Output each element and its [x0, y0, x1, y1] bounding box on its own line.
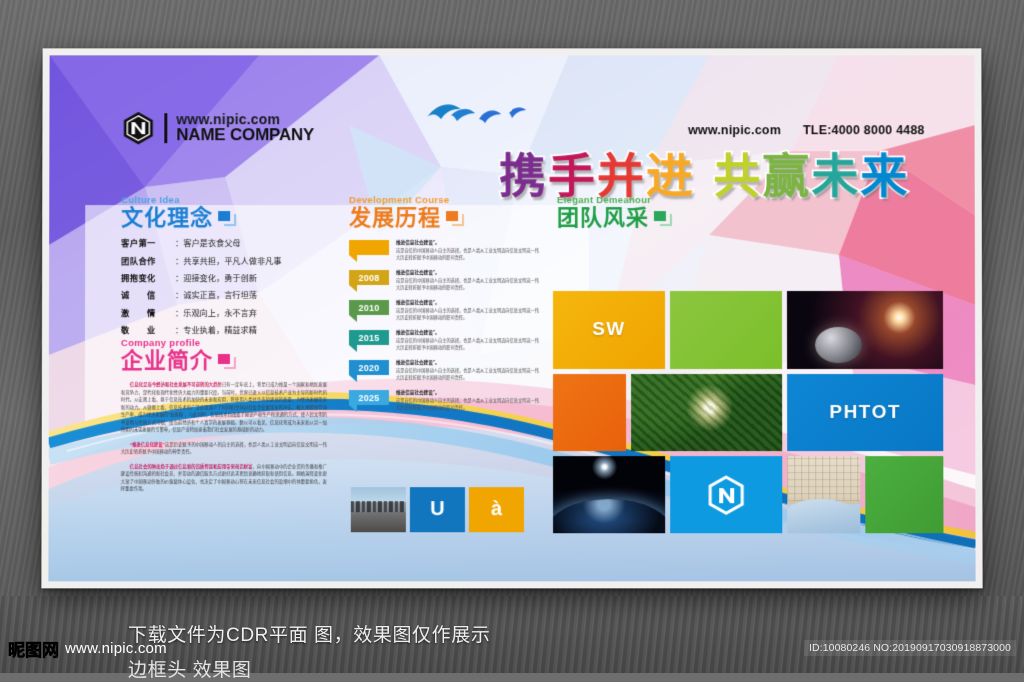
culture-square-accent-icon	[218, 210, 237, 227]
hexagon-ni-logo-icon	[706, 475, 746, 515]
timeline-body: 这是自信的中国移动人自主的选择，也是人类从工业文明迈向信息文明这一伟大历史转折赋…	[396, 308, 539, 321]
watermark-cn: 昵图网	[8, 636, 59, 661]
timeline-body: 这是自信的中国移动人自主的选择，也是人类从工业文明迈向信息文明这一伟大历史转折赋…	[396, 248, 539, 261]
team-grid-row	[553, 456, 945, 533]
culture-item-sep: ：	[175, 308, 183, 320]
screenshot-root: www.nipic.com NAME COMPANY www.nipic.com…	[0, 0, 1024, 673]
culture-item: 拥抱变化 ： 迎接变化，勇于创新	[121, 273, 321, 285]
timeline-row: 推进信息社会建设”。 这是自信的中国移动人自主的选择，也是人类从工业文明迈向信息…	[349, 240, 539, 262]
culture-item-key: 诚 信	[121, 290, 175, 302]
hexagon-ni-logo-icon	[121, 111, 155, 145]
timeline-heading: 推进信息社会建设”。	[396, 240, 539, 246]
culture-item-key: 拥抱变化	[121, 273, 175, 285]
timeline-year-tag: 2015	[349, 330, 389, 352]
team-grid-row: PHTOT	[553, 374, 945, 451]
culture-item-sep: ：	[175, 238, 183, 250]
logo-url: www.nipic.com	[176, 112, 314, 126]
culture-item-key: 客户第一	[121, 238, 175, 250]
cityscape-photo	[351, 487, 406, 532]
timeline-text: 推进信息社会建设”。 这是自信的中国移动人自主的选择，也是人类从工业文明迈向信息…	[396, 390, 539, 412]
culture-item-sep: ：	[175, 325, 183, 337]
timeline-tag-tail	[349, 285, 357, 292]
culture-item: 客户第一 ： 客户是衣食父母	[121, 238, 321, 250]
profile-cn-text: 企业简介	[121, 349, 213, 373]
timeline-body: 这是自信的中国移动人自主的选择，也是人类从工业文明迈向信息文明这一伟大历史转折赋…	[396, 338, 539, 351]
culture-item: 团队合作 ： 共享共担，平凡人做非凡事	[121, 256, 321, 268]
tile-sw-label: SW	[592, 319, 626, 341]
profile-paragraph: 信息化是当今经济和社会发展不可逆转的大趋势已有一定年底上，将至已成为推量一个国家…	[121, 381, 327, 434]
culture-item-value: 迎接变化，勇于创新	[183, 273, 257, 285]
timeline-text: 推进信息社会建设”。 这是自信的中国移动人自主的选择，也是人类从工业文明迈向信息…	[396, 270, 539, 292]
section-development-course: Development Course 发展历程	[349, 195, 539, 420]
development-thumbnail-row: U à	[351, 487, 524, 532]
timeline-year-tag: 2010	[349, 300, 389, 322]
culture-item-value: 共享共担，平凡人做非凡事	[183, 256, 281, 268]
timeline-list: 推进信息社会建设”。 这是自信的中国移动人自主的选择，也是人类从工业文明迈向信息…	[349, 240, 539, 412]
timeline-heading: 推进信息社会建设”。	[396, 390, 539, 396]
timeline-tag-tail	[349, 255, 357, 262]
letter-a-tile-label: à	[491, 498, 502, 521]
culture-item: 激 情 ： 乐观向上，永不言弃	[121, 308, 321, 320]
poster-frame: www.nipic.com NAME COMPANY www.nipic.com…	[41, 48, 982, 588]
timeline-tag-tail	[349, 405, 357, 412]
culture-item: 诚 信 ： 诚实正直，言行坦荡	[121, 290, 321, 302]
culture-item-list: 客户第一 ： 客户是衣食父母 团队合作 ： 共享共担，平凡人做非凡事 拥抱变化 …	[121, 238, 321, 337]
profile-paragraph: 信息社会的种出色于通过信息新的高质传递和应用带来创造财富，向中国移动中的企业资的…	[121, 463, 327, 493]
timeline-heading: 推进信息社会建设”。	[396, 270, 539, 276]
culture-item-value: 专业执着，精益求精	[183, 325, 257, 337]
culture-cn-title: 文化理念	[121, 206, 321, 230]
watermark: 昵图网 www.nipic.com	[8, 636, 167, 661]
photo-earth	[553, 456, 665, 533]
culture-item-key: 激 情	[121, 308, 175, 320]
team-square-accent-icon	[654, 210, 673, 227]
profile-square-accent-icon	[218, 353, 237, 370]
culture-item-value: 乐观向上，永不言弃	[183, 308, 257, 320]
timeline-body: 这是自信的中国移动人自主的选择，也是人类从工业文明迈向信息文明这一伟大历史转折赋…	[396, 398, 539, 411]
poster-canvas: www.nipic.com NAME COMPANY www.nipic.com…	[48, 55, 975, 581]
culture-cn-text: 文化理念	[121, 206, 213, 230]
section-culture: Culture Idea 文化理念 客户第一 ： 客户是衣食父母 团	[121, 195, 321, 342]
culture-item-sep: ：	[175, 290, 183, 302]
development-cn-title: 发展历程	[349, 206, 539, 230]
culture-item-sep: ：	[175, 256, 183, 268]
profile-paragraph: “推进信息化建设”这是历史赋予的中国移动人的自主的选择，也是人类从工业文明迈向信…	[121, 441, 327, 456]
culture-item-key: 敬 业	[121, 325, 175, 337]
profile-body: 信息化是当今经济和社会发展不可逆转的大趋势已有一定年底上，将至已成为推量一个国家…	[121, 381, 327, 493]
profile-cn-title: 企业简介	[121, 349, 327, 373]
timeline-text: 推进信息社会建设”。 这是自信的中国移动人自主的选择，也是人类从工业文明迈向信息…	[396, 330, 539, 352]
team-cn-text: 团队风采	[557, 206, 649, 230]
timeline-year-tag: 2025	[349, 390, 389, 412]
timeline-year-label: 2010	[349, 300, 389, 315]
development-square-accent-icon	[446, 210, 465, 227]
timeline-row: 2020 推进信息社会建设”。 这是自信的中国移动人自主的选择，也是人类从工业文…	[349, 360, 539, 382]
timeline-year-label: 2025	[349, 390, 389, 405]
photo-person	[787, 456, 860, 533]
tile-sw: SW	[553, 291, 665, 369]
timeline-tag-tail	[349, 375, 357, 382]
timeline-row: 2025 推进信息社会建设”。 这是自信的中国移动人自主的选择，也是人类从工业文…	[349, 390, 539, 412]
watermark-url: www.nipic.com	[65, 640, 167, 657]
culture-item-sep: ：	[175, 273, 183, 285]
team-photo-grid: SW PHTOT	[553, 291, 945, 538]
contact-tel: TLE:4000 8000 4488	[803, 123, 925, 137]
profile-paragraph-text: 已有一定年底上，将至已成为推量一个国家和地区发展和竞争力，是代化和现代化经济大福…	[121, 382, 327, 432]
logo-text-group: www.nipic.com NAME COMPANY	[176, 112, 314, 144]
timeline-tag-tail	[349, 315, 357, 322]
footer-caption-main: 下载文件为CDR平面 图，效果图仅作展示	[128, 620, 490, 647]
tile-phtot: PHTOT	[787, 374, 943, 451]
contact-website: www.nipic.com	[688, 123, 781, 137]
timeline-row: 2015 推进信息社会建设”。 这是自信的中国移动人自主的选择，也是人类从工业文…	[349, 330, 539, 352]
timeline-tag-tail	[349, 345, 357, 352]
header-contact: www.nipic.com TLE:4000 8000 4488	[688, 123, 925, 137]
timeline-body: 这是自信的中国移动人自主的选择，也是人类从工业文明迈向信息文明这一伟大历史转折赋…	[396, 368, 539, 381]
tile-lime	[670, 291, 782, 369]
tile-green	[865, 456, 943, 533]
timeline-body: 这是自信的中国移动人自主的选择，也是人类从工业文明迈向信息文明这一伟大历史转折赋…	[396, 278, 539, 291]
tile-logo	[670, 456, 782, 533]
timeline-heading: 推进信息社会建设”。	[396, 360, 539, 366]
logo-divider	[164, 113, 167, 143]
flying-birds-icon	[421, 95, 541, 135]
timeline-year-label	[349, 240, 389, 255]
profile-paragraph-lead: 信息社会的种出色于通过信息新的高质传递和应用带来创造财富	[130, 464, 253, 469]
photo-space	[787, 291, 943, 369]
tile-phtot-label: PHTOT	[829, 402, 901, 424]
brand-logo-block: www.nipic.com NAME COMPANY	[121, 111, 314, 145]
timeline-text: 推进信息社会建设”。 这是自信的中国移动人自主的选择，也是人类从工业文明迈向信息…	[396, 360, 539, 382]
timeline-year-label: 2015	[349, 330, 389, 345]
photo-forest	[631, 374, 782, 451]
profile-paragraph-lead: “推进信息化建设”	[130, 442, 165, 447]
timeline-year-tag: 2008	[349, 270, 389, 292]
timeline-year-tag: 2020	[349, 360, 389, 382]
timeline-row: 2010 推进信息社会建设”。 这是自信的中国移动人自主的选择，也是人类从工业文…	[349, 300, 539, 322]
culture-item-key: 团队合作	[121, 256, 175, 268]
letter-u-tile: U	[410, 487, 465, 532]
section-company-profile: Company profile 企业简介 信息化是当今经济和社会发展不可逆转的大…	[121, 338, 327, 500]
culture-item-value: 诚实正直，言行坦荡	[183, 290, 257, 302]
culture-item: 敬 业 ： 专业执着，精益求精	[121, 325, 321, 337]
letter-u-tile-label: U	[430, 498, 444, 521]
team-grid-row: SW	[553, 291, 945, 369]
timeline-year-label: 2020	[349, 360, 389, 375]
profile-paragraph-lead: 信息化是当今经济和社会发展不可逆转的大趋势	[130, 382, 222, 387]
timeline-text: 推进信息社会建设”。 这是自信的中国移动人自主的选择，也是人类从工业文明迈向信息…	[396, 240, 539, 262]
timeline-heading: 推进信息社会建设”。	[396, 300, 539, 306]
timeline-row: 2008 推进信息社会建设”。 这是自信的中国移动人自主的选择，也是人类从工业文…	[349, 270, 539, 292]
timeline-text: 推进信息社会建设”。 这是自信的中国移动人自主的选择，也是人类从工业文明迈向信息…	[396, 300, 539, 322]
team-cn-title: 团队风采	[557, 206, 947, 230]
tile-orange	[553, 374, 626, 451]
development-cn-text: 发展历程	[349, 206, 441, 230]
image-id-tag: ID:10080246 NO:20190917030918873000	[804, 640, 1016, 656]
timeline-heading: 推进信息社会建设”。	[396, 330, 539, 336]
section-team: Elegant Demeanour 团队风采	[557, 195, 947, 230]
timeline-year-tag	[349, 240, 389, 262]
letter-a-tile: à	[469, 487, 524, 532]
culture-item-value: 客户是衣食父母	[183, 238, 240, 250]
logo-company-name: NAME COMPANY	[176, 127, 314, 144]
timeline-year-label: 2008	[349, 270, 389, 285]
